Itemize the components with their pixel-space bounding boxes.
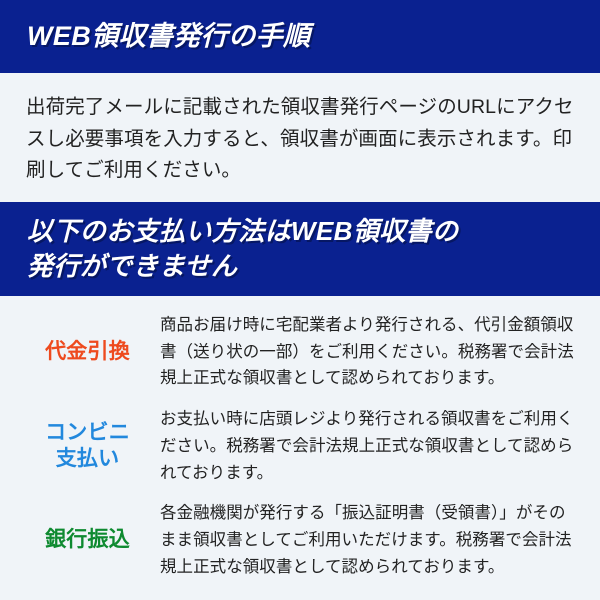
notice-title: 以下のお支払い方法はWEB領収書の 発行ができません	[27, 214, 458, 283]
payment-method-row-cod: 代金引換 商品お届け時に宅配業者より発行される、代引金額領収書（送り状の一部）を…	[0, 308, 600, 402]
payment-method-description-konbini: お支払い時に店頭レジより発行される領収書をご利用ください。税務署で会計法規上正式…	[150, 406, 576, 486]
receipt-info-page: WEB領収書発行の手順 出荷完了メールに記載された領収書発行ページのURLにアク…	[0, 0, 600, 600]
payment-method-row-bank: 銀行振込 各金融機関が発行する「振込証明書（受領書）」がそのまま領収書としてご利…	[0, 496, 600, 590]
payment-methods-list: 代金引換 商品お届け時に宅配業者より発行される、代引金額領収書（送り状の一部）を…	[0, 296, 600, 590]
payment-method-label-bank: 銀行振込	[25, 527, 150, 553]
payment-method-description-text: お支払い時に店頭レジより発行される領収書をご利用ください。税務署で会計法規上正式…	[160, 406, 576, 486]
payment-method-description-text: 商品お届け時に宅配業者より発行される、代引金額領収書（送り状の一部）をご利用くだ…	[160, 312, 576, 392]
notice-banner: 以下のお支払い方法はWEB領収書の 発行ができません	[0, 202, 600, 296]
page-header-banner: WEB領収書発行の手順	[0, 0, 600, 73]
payment-method-description-text: 各金融機関が発行する「振込証明書（受領書）」がそのまま領収書としてご利用いただけ…	[160, 500, 576, 580]
payment-method-label-konbini: コンビニ 支払い	[25, 420, 150, 473]
intro-paragraph: 出荷完了メールに記載された領収書発行ページのURLにアクセスし必要事項を入力する…	[26, 92, 578, 187]
intro-section: 出荷完了メールに記載された領収書発行ページのURLにアクセスし必要事項を入力する…	[0, 73, 600, 202]
page-title: WEB領収書発行の手順	[27, 19, 310, 54]
payment-method-description-cod: 商品お届け時に宅配業者より発行される、代引金額領収書（送り状の一部）をご利用くだ…	[150, 312, 576, 392]
payment-method-label-cod: 代金引換	[25, 339, 150, 365]
payment-method-row-konbini: コンビニ 支払い お支払い時に店頭レジより発行される領収書をご利用ください。税務…	[0, 402, 600, 496]
payment-method-description-bank: 各金融機関が発行する「振込証明書（受領書）」がそのまま領収書としてご利用いただけ…	[150, 500, 576, 580]
